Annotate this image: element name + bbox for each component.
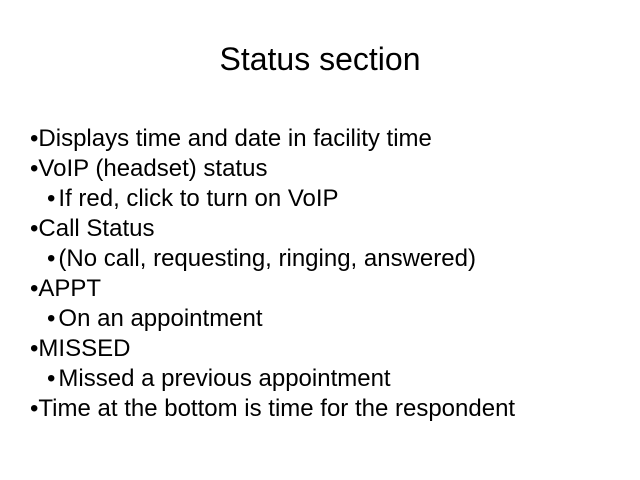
bullet-icon: • <box>47 304 55 334</box>
slide: Status section •Displays time and date i… <box>0 0 640 480</box>
list-item-label: On an appointment <box>58 305 262 332</box>
bullet-icon: • <box>47 364 55 394</box>
list-item: •Time at the bottom is time for the resp… <box>0 394 640 424</box>
bullet-icon: • <box>47 244 55 274</box>
list-item-label: APPT <box>38 275 101 302</box>
list-item: •On an appointment <box>0 304 640 334</box>
list-item: •(No call, requesting, ringing, answered… <box>0 244 640 274</box>
list-item: •Call Status <box>0 214 640 244</box>
list-item-label: (No call, requesting, ringing, answered) <box>58 245 476 272</box>
list-item-label: MISSED <box>38 335 130 362</box>
list-item: •If red, click to turn on VoIP <box>0 184 640 214</box>
list-item: •APPT <box>0 274 640 304</box>
list-item: •Displays time and date in facility time <box>0 124 640 154</box>
list-item-label: VoIP (headset) status <box>38 155 267 182</box>
list-item-label: Call Status <box>38 215 154 242</box>
list-item: •MISSED <box>0 334 640 364</box>
bullet-icon: • <box>47 184 55 214</box>
list-item-label: Time at the bottom is time for the respo… <box>38 395 515 422</box>
page-title: Status section <box>0 40 640 78</box>
list-item-label: Missed a previous appointment <box>58 365 390 392</box>
list-item-label: If red, click to turn on VoIP <box>58 185 338 212</box>
list-item: •Missed a previous appointment <box>0 364 640 394</box>
list-item-label: Displays time and date in facility time <box>38 125 432 152</box>
list-item: •VoIP (headset) status <box>0 154 640 184</box>
bullet-list: •Displays time and date in facility time… <box>0 124 640 424</box>
